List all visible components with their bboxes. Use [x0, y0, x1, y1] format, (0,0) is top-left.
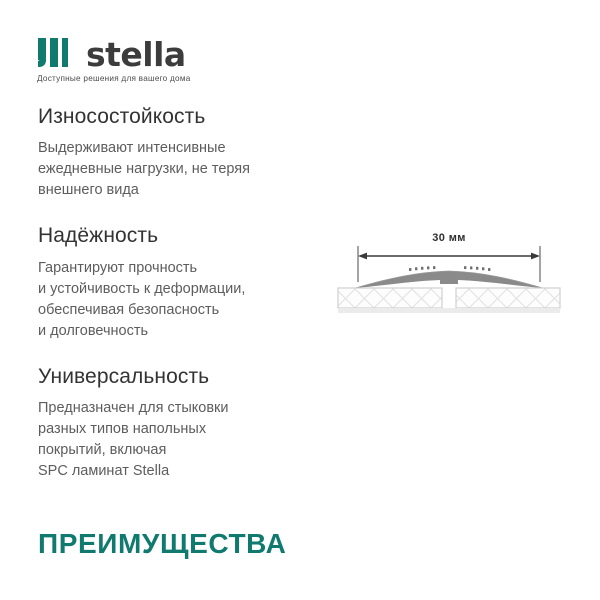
- stella-logo-mark-icon: [36, 38, 76, 68]
- feature-item: Универсальность Предназначен для стыковк…: [38, 364, 338, 482]
- brand-logo: stella Доступные решения для вашего дома: [36, 34, 296, 83]
- feature-title: Универсальность: [38, 364, 338, 390]
- dimension-arrow-line: [358, 253, 540, 260]
- feature-body: Гарантируют прочность и устойчивость к д…: [38, 258, 338, 342]
- brand-wordmark: stella: [86, 40, 186, 70]
- feature-body: Предназначен для стыковки разных типов н…: [38, 398, 338, 482]
- feature-item: Износостойкость Выдерживают интенсивные …: [38, 104, 338, 201]
- floor-block-right: [456, 288, 560, 308]
- feature-item: Надёжность Гарантируют прочность и устой…: [38, 223, 338, 341]
- promo-page: stella Доступные решения для вашего дома…: [0, 0, 600, 600]
- transition-profile-shape: [354, 271, 544, 288]
- floor-block-left: [338, 288, 442, 308]
- profile-cross-section-svg: [336, 232, 562, 314]
- feature-list: Износостойкость Выдерживают интенсивные …: [38, 104, 338, 482]
- profile-grip-marks: [409, 266, 490, 271]
- feature-title: Надёжность: [38, 223, 338, 249]
- logo-row: stella: [36, 34, 296, 68]
- product-diagram: 30 мм: [336, 232, 562, 314]
- brand-tagline: Доступные решения для вашего дома: [37, 74, 296, 83]
- feature-body: Выдерживают интенсивные ежедневные нагру…: [38, 138, 338, 201]
- subfloor-base-strip: [338, 308, 560, 313]
- dimension-label: 30 мм: [336, 232, 562, 244]
- page-headline: ПРЕИМУЩЕСТВА: [38, 530, 286, 558]
- feature-title: Износостойкость: [38, 104, 338, 130]
